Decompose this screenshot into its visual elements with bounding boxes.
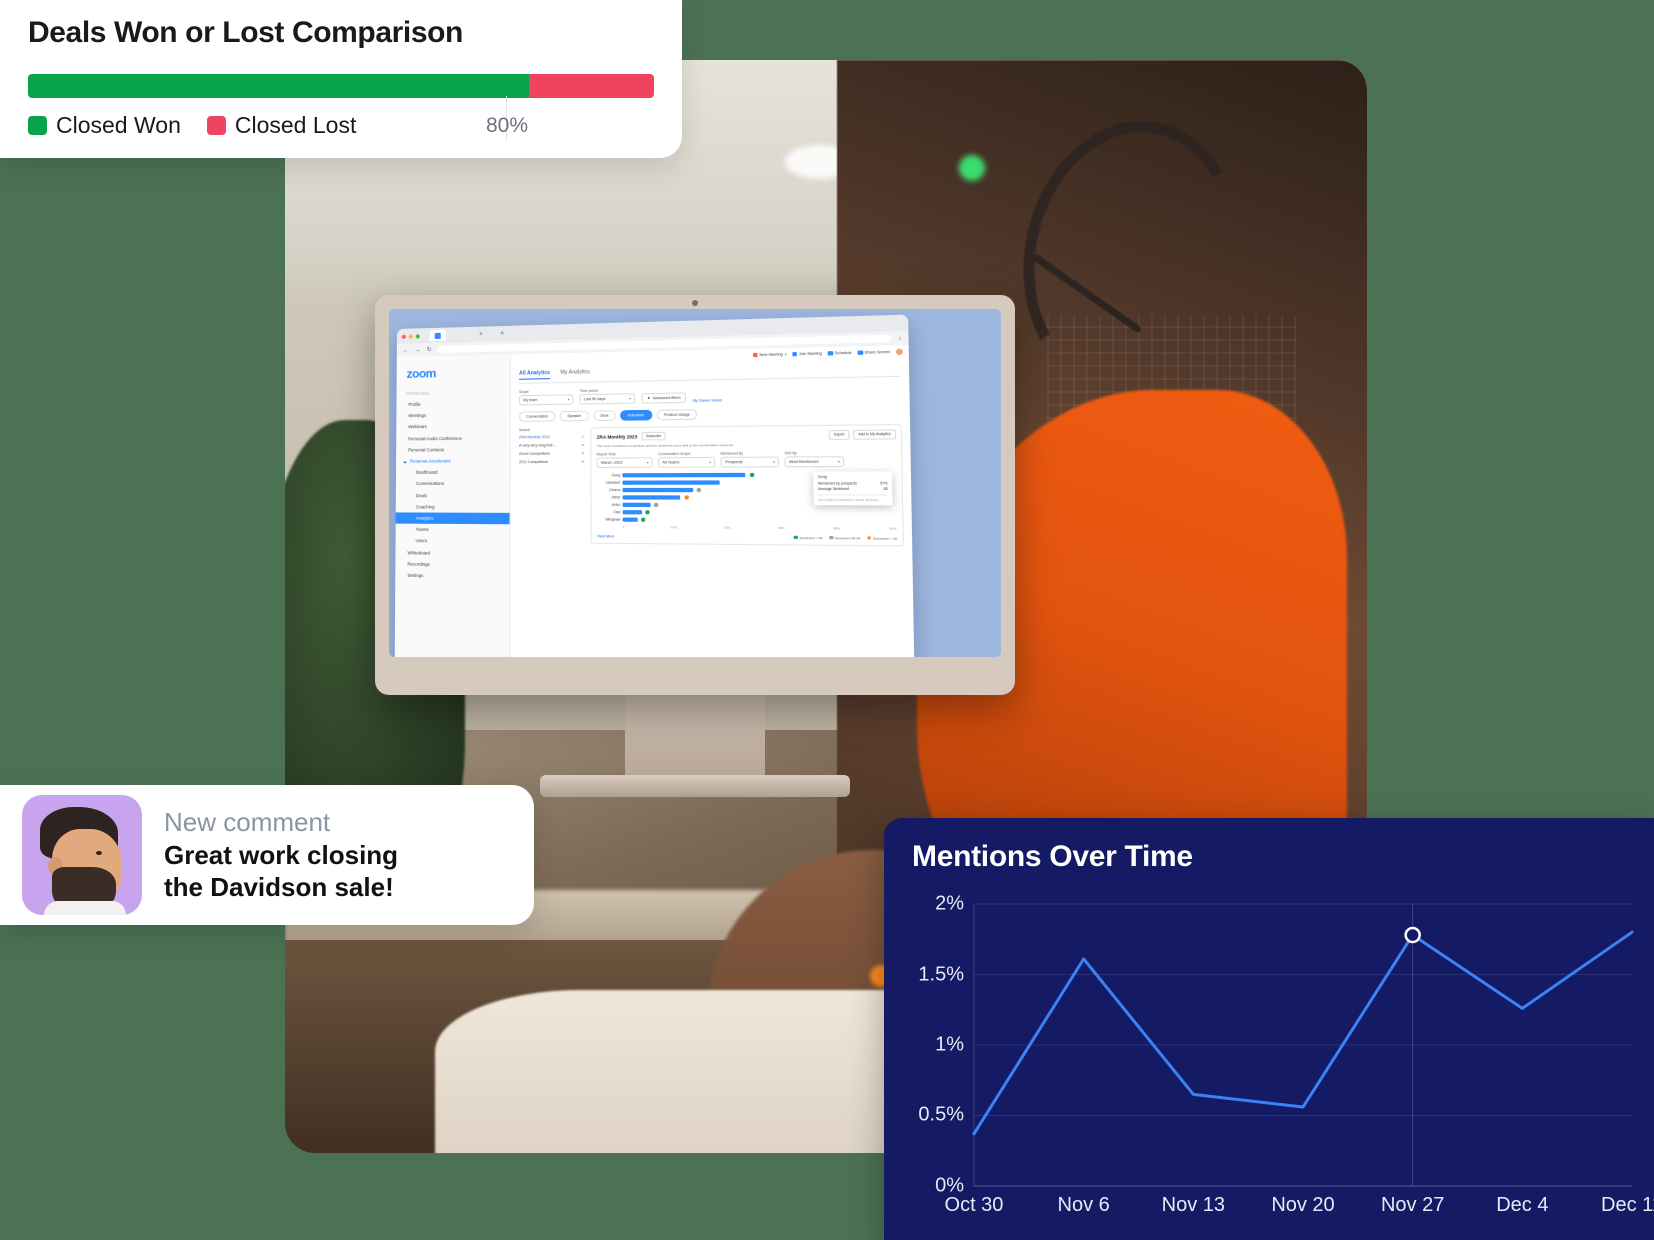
x-axis-tick-label: Nov 6 (1036, 1194, 1132, 1217)
legend-swatch-lost-icon (207, 116, 226, 135)
join-meeting-label: Join Meeting (799, 351, 822, 356)
desktop-monitor: × + ← → ↻ ↓ zoom PERSONAL (375, 295, 1015, 695)
sidebar-item-teams[interactable]: Teams (396, 524, 510, 536)
category-chips: Conversation Speaker Deal Indicators Pro… (519, 406, 902, 421)
mentioned-by-value: Prospects (725, 460, 743, 464)
conversation-scope-filter: Conversation Scope All Teams▾ (658, 452, 715, 468)
zoom-web-app: zoom PERSONAL Profile Meetings Webinars … (395, 345, 915, 657)
share-screen-label: Share Screen (864, 350, 890, 355)
time-period-select[interactable]: Last 90 days▾ (580, 393, 635, 404)
search-item-zoom-competitors[interactable]: Zoom Competitors× (519, 451, 584, 456)
tooltip-row-sentiment: Average Sentiment 85 (818, 487, 888, 491)
tooltip-row2-label: Average Sentiment (818, 487, 849, 491)
x-axis-tick-label: Oct 30 (926, 1194, 1022, 1217)
search-item-label: A very very long indi... (519, 443, 556, 447)
analytics-filters: Scope My team▾ Time period Last 90 days▾… (519, 383, 901, 405)
chevron-down-icon: ▾ (629, 396, 631, 400)
x-axis-tick-label: Dec 4 (1474, 1194, 1570, 1217)
search-item-zcc-competitors[interactable]: ZCC Competitors× (519, 460, 584, 464)
sort-by-select[interactable]: Most Mentioned▾ (785, 456, 845, 467)
report-filters: Report Time March, 2023▾ Conversation Sc… (597, 450, 896, 468)
page-root: × + ← → ↻ ↓ zoom PERSONAL (0, 0, 1654, 1240)
legend-label-lost: Closed Lost (235, 112, 356, 139)
remove-icon[interactable]: × (582, 443, 584, 447)
join-meeting-button[interactable]: Join Meeting (792, 351, 822, 357)
bar-fill (622, 473, 745, 478)
remove-icon[interactable]: × (582, 435, 584, 439)
browser-tab[interactable] (430, 330, 446, 342)
legend-item: Sentiment 40-60 (829, 536, 860, 541)
sort-by-label: Sort By (784, 451, 844, 456)
schedule-button[interactable]: Schedule (828, 350, 852, 355)
x-axis-tick-label: Dec 11 (1584, 1194, 1654, 1217)
bar-label: Other (597, 495, 621, 499)
report-card: ZRA Monthly 2023 Subscribe Export Add to… (590, 424, 904, 546)
tab-my-analytics[interactable]: My Analytics (560, 369, 589, 379)
close-icon[interactable] (402, 334, 406, 338)
search-item-zra-monthly[interactable]: ZRA Monthly 2023× (519, 435, 584, 440)
deals-percent-label: 80% (486, 114, 528, 138)
bar-fill (623, 503, 651, 507)
new-meeting-button[interactable]: New Meeting▾ (753, 352, 787, 358)
photo-person-lap (435, 990, 955, 1153)
line-series-mentions (974, 932, 1632, 1134)
legend-closed-won: Closed Won (28, 112, 181, 139)
sort-by-value: Most Mentioned (789, 460, 818, 464)
analytics-tabs: All Analytics My Analytics (519, 363, 901, 384)
chevron-down-icon: ▾ (567, 397, 569, 401)
closed-lost-segment (529, 74, 654, 98)
search-item-label: ZRA Monthly 2023 (519, 435, 550, 439)
monitor-stand-foot (540, 775, 850, 797)
conversation-scope-value: All Teams (662, 460, 679, 464)
bar-row[interactable]: Clari (597, 510, 896, 516)
closed-won-segment (28, 74, 529, 98)
bar-row[interactable]: Wingman (597, 517, 897, 523)
zoom-sidebar: zoom PERSONAL Profile Meetings Webinars … (395, 354, 511, 657)
chevron-down-icon: ▾ (647, 460, 649, 464)
bar-chart-x-axis: 010%20%30%40%50% (623, 525, 897, 531)
tab-all-analytics[interactable]: All Analytics (519, 370, 550, 380)
legend-dot-icon (829, 536, 833, 540)
bar-label: Outreach (597, 481, 621, 485)
chip-indicators[interactable]: Indicators (620, 410, 652, 421)
scope-select[interactable]: My team▾ (519, 394, 573, 405)
screen-icon (858, 350, 863, 355)
scope-filter: Scope My team▾ (519, 389, 573, 405)
deals-comparison-card: Deals Won or Lost Comparison Closed Won … (0, 0, 682, 158)
chip-deal[interactable]: Deal (593, 410, 616, 421)
x-tick: 30% (778, 526, 785, 530)
sentiment-dot-icon (684, 495, 688, 499)
zoom-topbar: New Meeting▾ Join Meeting Schedule Share… (753, 348, 903, 358)
bar-label: Wingman (597, 517, 621, 521)
mentions-over-time-card: Mentions Over Time 0%0.5%1%1.5%2%Oct 30N… (884, 818, 1654, 1240)
sort-by-filter: Sort By Most Mentioned▾ (784, 451, 844, 468)
remove-icon[interactable]: × (582, 460, 584, 464)
sidebar-item-analytics[interactable]: Analytics (396, 512, 510, 524)
tooltip-row1-label: Mentioned by prospects (818, 481, 857, 485)
comment-eyebrow: New comment (164, 807, 398, 838)
advanced-filters-button[interactable]: ▼Advanced filters (641, 392, 686, 403)
mentioned-by-label: Mentioned By (721, 451, 779, 456)
sentiment-legend: Sentiment > 60Sentiment 40-60Sentiment <… (794, 536, 897, 541)
x-tick: 40% (833, 526, 840, 530)
new-meeting-label: New Meeting (759, 352, 783, 357)
headset-indicator-light (959, 155, 985, 181)
sentiment-dot-icon (697, 488, 701, 492)
add-to-my-analytics-button[interactable]: Add to My Analytics (853, 430, 896, 440)
conversation-scope-label: Conversation Scope (658, 452, 715, 457)
time-period-value: Last 90 days (584, 397, 606, 401)
sentiment-dot-icon (641, 518, 645, 522)
chip-conversation[interactable]: Conversation (519, 411, 556, 422)
legend-item: Sentiment < 40 (867, 536, 896, 541)
browser-window[interactable]: × + ← → ↻ ↓ zoom PERSONAL (395, 315, 915, 657)
new-comment-card[interactable]: New comment Great work closing the David… (0, 785, 534, 925)
remove-icon[interactable]: × (582, 451, 584, 455)
bar-label: Aviso (597, 503, 621, 507)
chevron-down-icon: ▾ (838, 459, 840, 463)
report-footer: View More Sentiment > 60Sentiment 40-60S… (597, 534, 897, 541)
plus-square-icon (792, 352, 797, 357)
zoom-main-panel: New Meeting▾ Join Meeting Schedule Share… (510, 345, 914, 657)
mentions-line-chart: 0%0.5%1%1.5%2%Oct 30Nov 6Nov 13Nov 20Nov… (912, 890, 1646, 1232)
sidebar-item-personal-audio-conference[interactable]: Personal Audio Conference (396, 432, 509, 444)
y-axis-tick-label: 2% (906, 893, 964, 916)
sentiment-dot-icon (749, 473, 754, 477)
scope-label: Scope (519, 389, 573, 394)
search-item-label: ZCC Competitors (519, 460, 548, 464)
sidebar-item-conversations[interactable]: Conversations (396, 478, 510, 490)
report-title: ZRA Monthly 2023 (597, 434, 638, 440)
bar-label: Chorus (597, 488, 621, 492)
sidebar-item-personal-contacts[interactable]: Personal Contacts (396, 443, 510, 455)
avatar[interactable] (896, 348, 903, 355)
analytics-body: Search ZRA Monthly 2023× A very very lon… (519, 424, 904, 546)
y-axis-tick-label: 1% (906, 1034, 964, 1057)
sidebar-item-settings[interactable]: Settings (395, 569, 509, 582)
schedule-label: Schedule (835, 351, 852, 356)
mentioned-by-filter: Mentioned By Prospects▾ (721, 451, 779, 467)
report-actions: Export Add to My Analytics (829, 430, 897, 440)
report-time-value: March, 2023 (601, 461, 622, 465)
bar-fill (623, 517, 638, 522)
x-tick: 10% (670, 525, 677, 529)
zoom-window-icon[interactable] (416, 334, 420, 338)
y-axis-tick-label: 0.5% (906, 1104, 964, 1127)
comment-message-line-2: the Davidson sale! (164, 872, 398, 903)
legend-label-won: Closed Won (56, 112, 181, 139)
deals-legend: Closed Won Closed Lost 80% (28, 112, 654, 139)
minimize-icon[interactable] (409, 334, 413, 338)
legend-dot-icon (794, 536, 798, 540)
avatar-shirt (44, 901, 126, 915)
x-tick: 20% (724, 525, 731, 529)
y-axis-tick-label: 1.5% (906, 963, 964, 986)
tooltip-row-mentions: Mentioned by prospects 57% (818, 481, 888, 485)
bar-tooltip: Gong Mentioned by prospects 57% Average … (813, 471, 892, 505)
comment-message-line-1: Great work closing (164, 840, 398, 871)
forward-icon[interactable]: → (415, 347, 421, 353)
x-tick: 50% (889, 526, 896, 530)
saved-views-link[interactable]: My Saved Views (693, 398, 722, 403)
share-screen-button[interactable]: Share Screen (858, 350, 891, 356)
data-point-marker[interactable] (1406, 928, 1420, 942)
x-axis-tick-label: Nov 13 (1145, 1194, 1241, 1217)
reload-icon[interactable]: ↻ (427, 346, 432, 353)
download-icon[interactable]: ↓ (898, 335, 902, 342)
legend-label: Sentiment < 40 (873, 536, 897, 541)
sentiment-dot-icon (654, 503, 658, 507)
bar-fill (622, 488, 693, 492)
avatar (22, 795, 142, 915)
tooltip-note: Out of 200 conversations across all team… (818, 494, 888, 502)
zoom-logo: zoom (397, 361, 510, 389)
bar-label: Gong (597, 473, 621, 477)
bar-fill (622, 480, 719, 485)
legend-label: Sentiment > 60 (799, 536, 822, 541)
chip-product-usage[interactable]: Product Usage (656, 409, 697, 420)
sidebar-item-deals[interactable]: Deals (396, 490, 510, 502)
tooltip-title: Gong (818, 475, 888, 480)
monitor-screen: × + ← → ↻ ↓ zoom PERSONAL (389, 309, 1001, 657)
time-period-filter: Time period Last 90 days▾ (580, 388, 635, 405)
x-axis-tick-label: Nov 20 (1255, 1194, 1351, 1217)
search-item-label: Zoom Competitors (519, 452, 550, 456)
conversation-scope-select[interactable]: All Teams▾ (658, 457, 715, 468)
bar-fill (623, 510, 642, 515)
legend-swatch-won-icon (28, 116, 47, 135)
report-time-select[interactable]: March, 2023▾ (597, 457, 653, 468)
legend-label: Sentiment 40-60 (835, 536, 861, 541)
chevron-down-icon: ▾ (709, 460, 711, 464)
close-tab-icon[interactable]: × (479, 331, 483, 337)
legend-item: Sentiment > 60 (794, 536, 823, 541)
sidebar-item-dashboard[interactable]: Dashboard (396, 466, 510, 478)
subscribe-button[interactable]: Subscribe (642, 432, 666, 441)
report-time-label: Report Time (597, 452, 653, 457)
comment-text-block: New comment Great work closing the David… (164, 807, 414, 903)
chevron-down-icon: ▾ (773, 460, 775, 464)
tab-favicon-icon (435, 332, 441, 338)
legend-closed-lost: Closed Lost (207, 112, 356, 139)
sentiment-dot-icon (645, 510, 649, 514)
monitor-bezel: × + ← → ↻ ↓ zoom PERSONAL (375, 295, 1015, 695)
page-title: Deals Won or Lost Comparison (0, 0, 682, 50)
deals-progress-bar (28, 74, 654, 98)
export-button[interactable]: Export (829, 430, 850, 440)
chart-title: Mentions Over Time (884, 818, 1654, 874)
sidebar-group-revenue-accelerator[interactable]: Revenue Accelerator (396, 455, 510, 467)
search-label: Search (519, 427, 584, 432)
advanced-filters-label: Advanced filters (653, 396, 681, 401)
tooltip-row2-value: 85 (883, 487, 887, 491)
x-tick: 0 (623, 525, 625, 529)
bar-label: Clari (597, 510, 621, 514)
bar-fill (623, 495, 681, 500)
time-period-label: Time period (580, 388, 635, 393)
chip-speaker[interactable]: Speaker (560, 411, 589, 422)
tooltip-row1-value: 57% (880, 481, 888, 485)
legend-dot-icon (867, 537, 871, 541)
filter-icon: ▼ (647, 396, 651, 400)
new-tab-icon[interactable]: + (500, 330, 504, 337)
view-more-link[interactable]: View More (597, 534, 615, 538)
search-item-long[interactable]: A very very long indi...× (519, 443, 584, 448)
x-axis-tick-label: Nov 27 (1365, 1194, 1461, 1217)
monitor-stand-neck (625, 693, 765, 785)
mentioned-by-select[interactable]: Prospects▾ (721, 457, 779, 468)
search-panel: Search ZRA Monthly 2023× A very very lon… (519, 427, 584, 543)
chevron-down-icon[interactable]: ▾ (785, 352, 787, 356)
calendar-icon (828, 351, 833, 356)
avatar-eye (96, 851, 102, 855)
scope-value: My team (523, 398, 537, 402)
back-icon[interactable]: ← (403, 347, 409, 353)
report-description: The most mentioned competitors and the s… (597, 442, 895, 449)
webcam-icon (692, 300, 698, 306)
report-time-filter: Report Time March, 2023▾ (597, 452, 653, 468)
video-icon (753, 353, 758, 358)
sidebar-item-coaching[interactable]: Coaching (396, 501, 510, 513)
line-chart-svg (912, 890, 1646, 1232)
